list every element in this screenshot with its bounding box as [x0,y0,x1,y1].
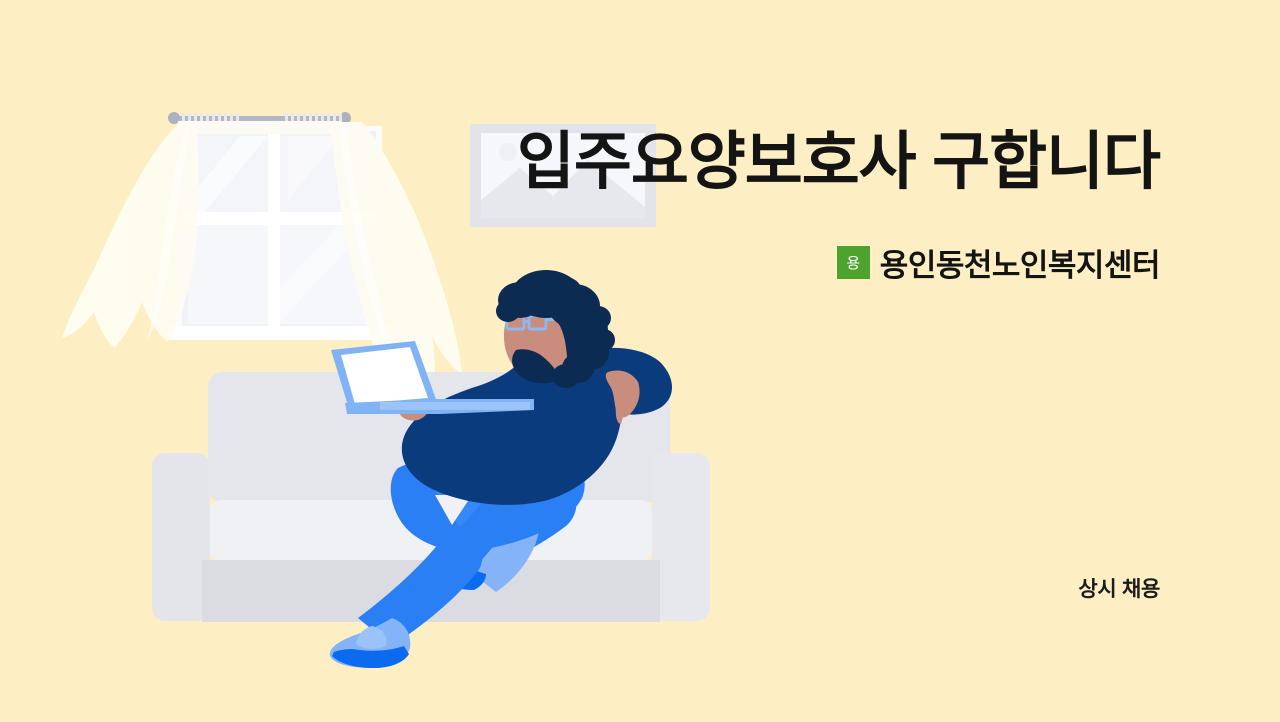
sofa-right-arm [652,453,710,621]
wall-picture-frame [470,124,656,227]
job-posting-poster: 입주요양보호사 구합니다 용 용인동천노인복지센터 상시 채용 [0,0,1280,722]
sofa-left-arm [152,453,210,621]
living-room-illustration [0,0,1280,722]
